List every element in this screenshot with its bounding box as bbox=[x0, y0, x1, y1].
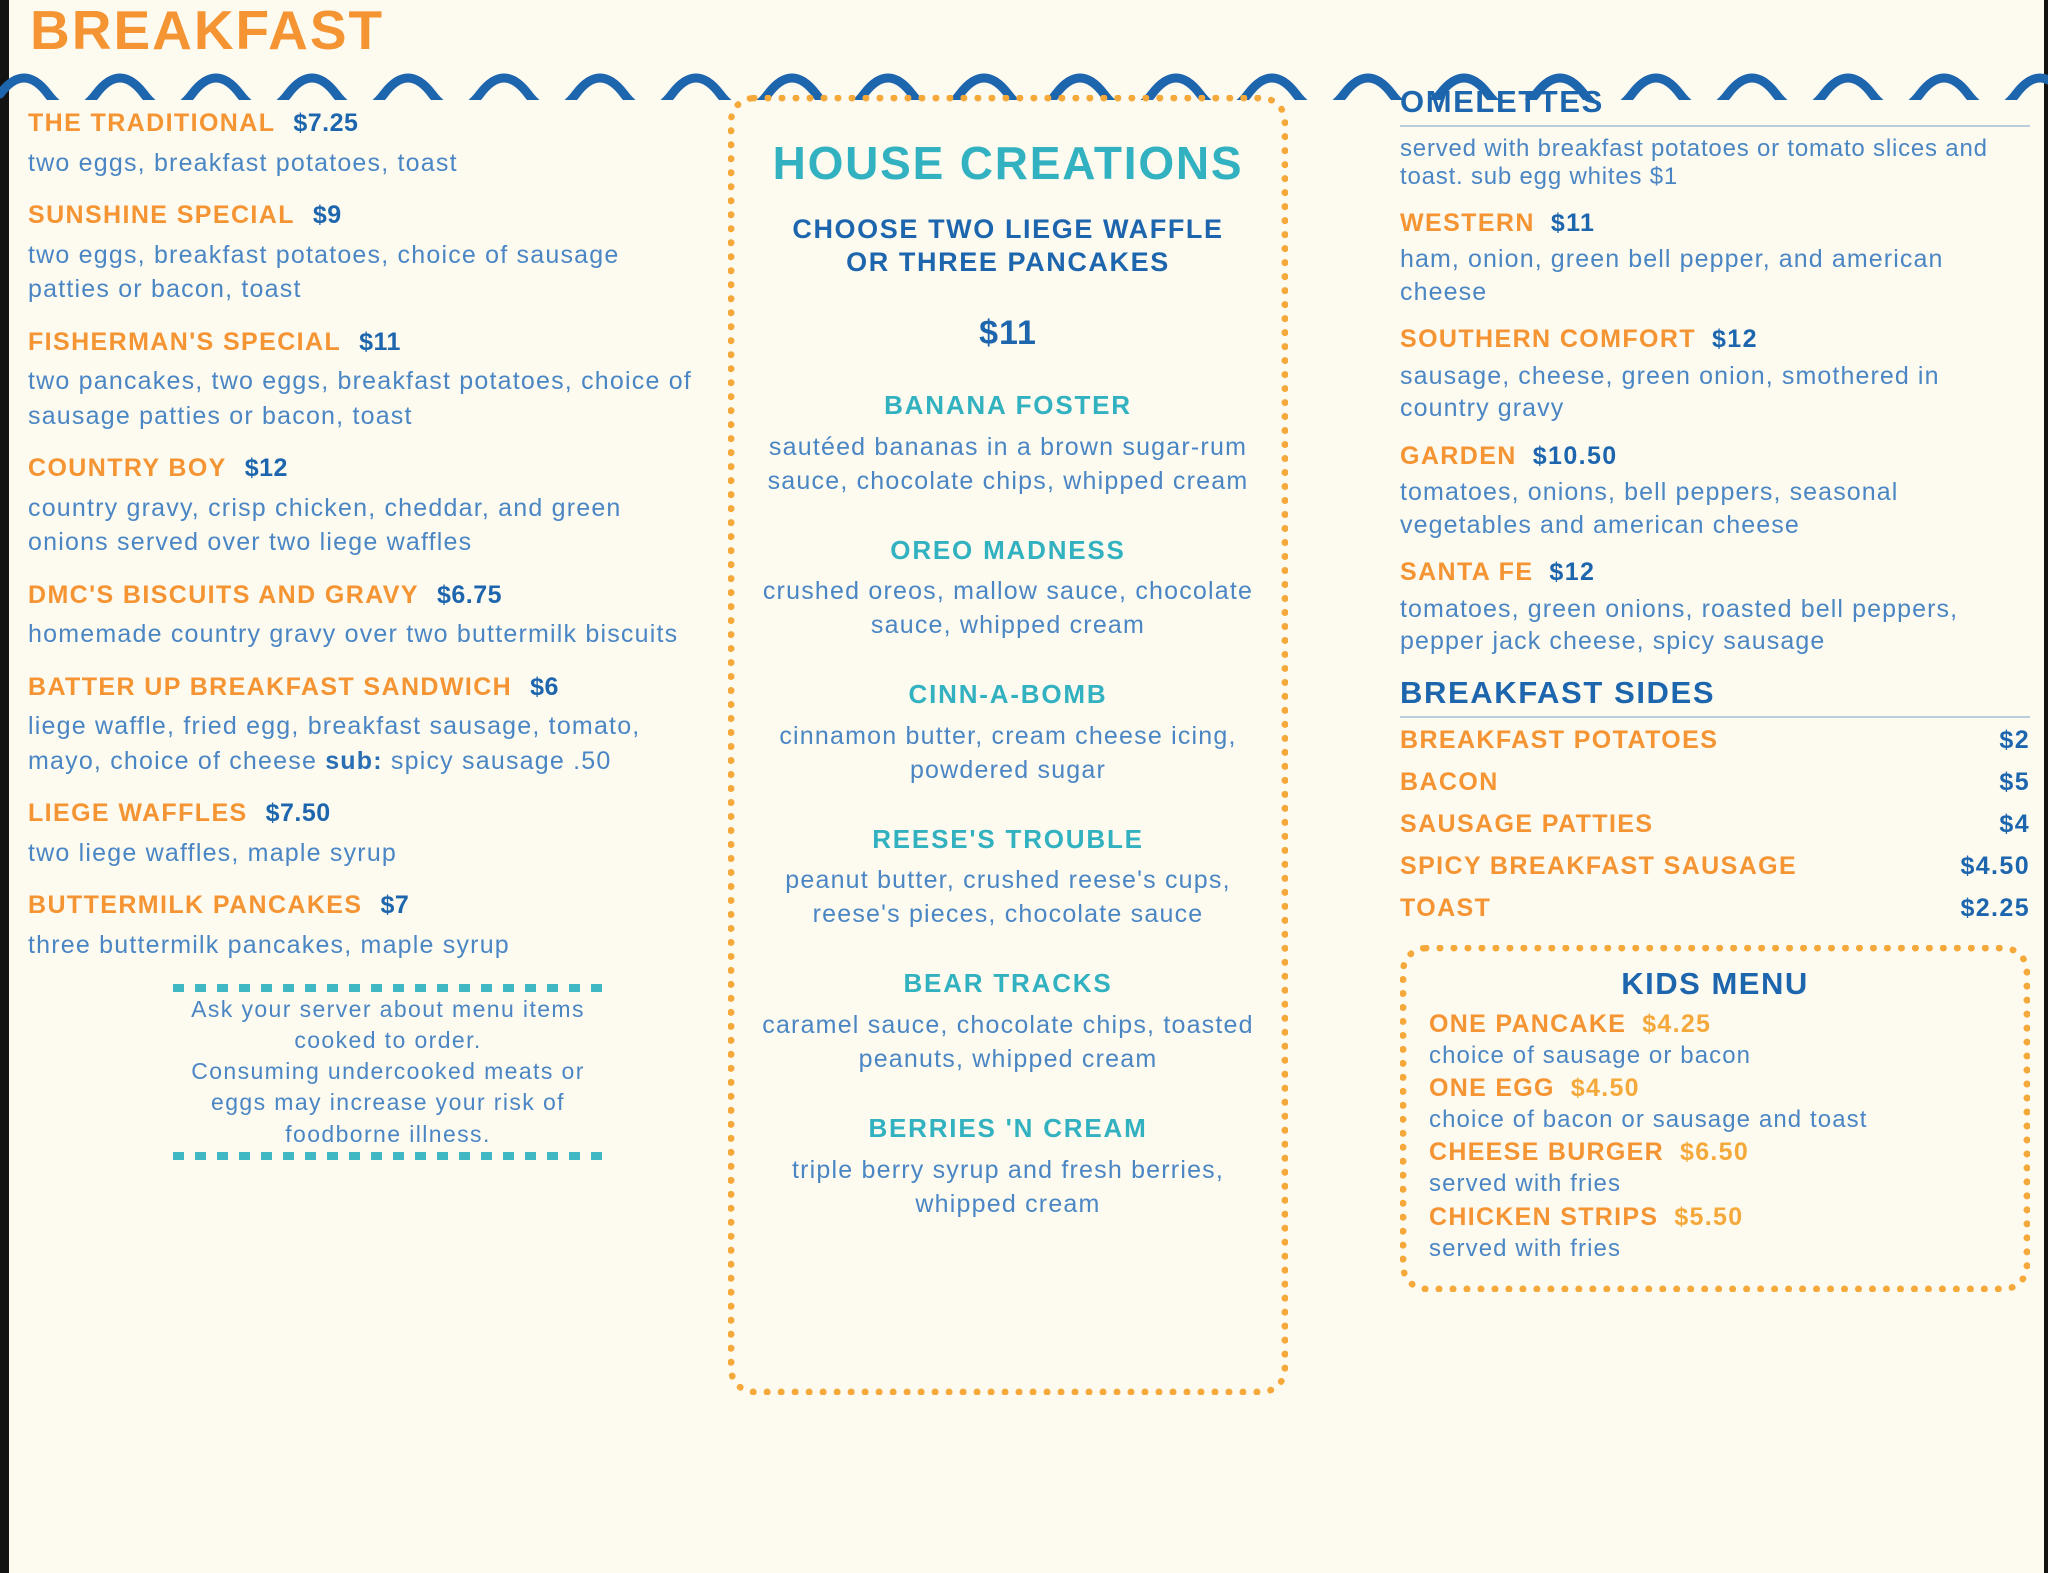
item-name: DMC'S BISCUITS AND GRAVY bbox=[28, 582, 419, 610]
item-name: SOUTHERN COMFORT bbox=[1400, 326, 1696, 354]
menu-page: BREAKFAST THE TRADITIONAL $7.25 two eggs… bbox=[0, 0, 2048, 1573]
item-price: $4.25 bbox=[1642, 1010, 1711, 1039]
menu-item-country-boy[interactable]: COUNTRY BOY $12 country gravy, crisp chi… bbox=[28, 455, 708, 560]
item-description: served with fries bbox=[1429, 1234, 2001, 1263]
side-name: BACON bbox=[1400, 768, 1499, 797]
creation-name: OREO MADNESS bbox=[759, 536, 1257, 565]
item-name: BATTER UP BREAKFAST SANDWICH bbox=[28, 674, 512, 702]
item-name: SUNSHINE SPECIAL bbox=[28, 202, 295, 230]
left-column: THE TRADITIONAL $7.25 two eggs, breakfas… bbox=[28, 110, 708, 1160]
item-name: CHEESE BURGER bbox=[1429, 1138, 1664, 1167]
omelettes-note: served with breakfast potatoes or tomato… bbox=[1400, 135, 2030, 192]
kids-menu-panel: KIDS MENU ONE PANCAKE $4.25 choice of sa… bbox=[1400, 945, 2030, 1292]
item-description: homemade country gravy over two buttermi… bbox=[28, 617, 708, 652]
item-description: two liege waffles, maple syrup bbox=[28, 836, 708, 871]
creation-oreo-madness[interactable]: OREO MADNESS crushed oreos, mallow sauce… bbox=[759, 536, 1257, 643]
omelettes-title: OMELETTES bbox=[1400, 85, 2030, 119]
side-row[interactable]: SPICY BREAKFAST SAUSAGE $4.50 bbox=[1400, 852, 2030, 881]
disclaimer-line-4: eggs may increase your risk of bbox=[138, 1089, 638, 1116]
kids-item-cheese-burger[interactable]: CHEESE BURGER $6.50 served with fries bbox=[1429, 1138, 2001, 1198]
omelette-southern-comfort[interactable]: SOUTHERN COMFORT $12 sausage, cheese, gr… bbox=[1400, 326, 2030, 425]
side-price: $2 bbox=[1999, 726, 2030, 755]
item-price: $6.75 bbox=[437, 582, 502, 610]
house-creations-price: $11 bbox=[759, 314, 1257, 353]
item-header: FISHERMAN'S SPECIAL $11 bbox=[28, 329, 708, 357]
creation-cinn-a-bomb[interactable]: CINN-A-BOMB cinnamon butter, cream chees… bbox=[759, 680, 1257, 787]
creation-description: sautéed bananas in a brown sugar-rum sau… bbox=[759, 430, 1257, 498]
desc-part-post: spicy sausage .50 bbox=[383, 747, 612, 775]
item-price: $7.50 bbox=[266, 800, 331, 828]
side-price: $2.25 bbox=[1960, 894, 2030, 923]
section-rule bbox=[1400, 125, 2030, 127]
creation-description: cinnamon butter, cream cheese icing, pow… bbox=[759, 719, 1257, 787]
creation-description: crushed oreos, mallow sauce, chocolate s… bbox=[759, 574, 1257, 642]
item-description: two eggs, breakfast potatoes, choice of … bbox=[28, 238, 708, 307]
item-price: $12 bbox=[1549, 559, 1595, 587]
item-description: country gravy, crisp chicken, cheddar, a… bbox=[28, 491, 708, 560]
side-name: SPICY BREAKFAST SAUSAGE bbox=[1400, 852, 1797, 881]
omelette-western[interactable]: WESTERN $11 ham, onion, green bell peppe… bbox=[1400, 210, 2030, 309]
item-header: BUTTERMILK PANCAKES $7 bbox=[28, 892, 708, 920]
side-name: BREAKFAST POTATOES bbox=[1400, 726, 1718, 755]
side-row[interactable]: TOAST $2.25 bbox=[1400, 894, 2030, 923]
item-price: $4.50 bbox=[1571, 1074, 1640, 1103]
creation-name: BEAR TRACKS bbox=[759, 969, 1257, 998]
item-header: CHEESE BURGER $6.50 bbox=[1429, 1138, 2001, 1167]
item-header: SUNSHINE SPECIAL $9 bbox=[28, 202, 708, 230]
subtitle-line-2: OR THREE PANCAKES bbox=[759, 246, 1257, 280]
right-column: OMELETTES served with breakfast potatoes… bbox=[1400, 85, 2030, 1292]
item-header: DMC'S BISCUITS AND GRAVY $6.75 bbox=[28, 582, 708, 610]
item-price: $12 bbox=[1712, 326, 1758, 354]
item-description: liege waffle, fried egg, breakfast sausa… bbox=[28, 709, 708, 778]
kids-item-one-egg[interactable]: ONE EGG $4.50 choice of bacon or sausage… bbox=[1429, 1074, 2001, 1134]
item-price: $10.50 bbox=[1533, 443, 1618, 471]
item-description: tomatoes, onions, bell peppers, seasonal… bbox=[1400, 476, 2030, 541]
item-price: $6.50 bbox=[1680, 1138, 1749, 1167]
side-name: SAUSAGE PATTIES bbox=[1400, 810, 1653, 839]
dotted-rule-bottom bbox=[173, 1152, 603, 1160]
subtitle-line-1: CHOOSE TWO LIEGE WAFFLE bbox=[759, 213, 1257, 247]
item-price: $9 bbox=[313, 202, 342, 230]
item-price: $7 bbox=[380, 892, 409, 920]
item-header: THE TRADITIONAL $7.25 bbox=[28, 110, 708, 138]
menu-item-buttermilk-pancakes[interactable]: BUTTERMILK PANCAKES $7 three buttermilk … bbox=[28, 892, 708, 962]
menu-item-batter-up-breakfast-sandwich[interactable]: BATTER UP BREAKFAST SANDWICH $6 liege wa… bbox=[28, 674, 708, 779]
item-header: SANTA FE $12 bbox=[1400, 559, 2030, 587]
item-description: sausage, cheese, green onion, smothered … bbox=[1400, 360, 2030, 425]
item-header: ONE PANCAKE $4.25 bbox=[1429, 1010, 2001, 1039]
house-creations-title: HOUSE CREATIONS bbox=[759, 138, 1257, 189]
item-description: tomatoes, green onions, roasted bell pep… bbox=[1400, 593, 2030, 658]
item-name: CHICKEN STRIPS bbox=[1429, 1203, 1658, 1232]
item-price: $11 bbox=[1551, 210, 1596, 238]
item-description: three buttermilk pancakes, maple syrup bbox=[28, 928, 708, 963]
omelette-garden[interactable]: GARDEN $10.50 tomatoes, onions, bell pep… bbox=[1400, 443, 2030, 542]
creation-name: BANANA FOSTER bbox=[759, 391, 1257, 420]
item-name: BUTTERMILK PANCAKES bbox=[28, 892, 362, 920]
creation-name: REESE'S TROUBLE bbox=[759, 825, 1257, 854]
item-price: $11 bbox=[359, 329, 401, 357]
item-description: choice of bacon or sausage and toast bbox=[1429, 1105, 2001, 1134]
item-description: choice of sausage or bacon bbox=[1429, 1041, 2001, 1070]
side-name: TOAST bbox=[1400, 894, 1491, 923]
creation-bear-tracks[interactable]: BEAR TRACKS caramel sauce, chocolate chi… bbox=[759, 969, 1257, 1076]
side-row[interactable]: BREAKFAST POTATOES $2 bbox=[1400, 726, 2030, 755]
food-safety-disclaimer: Ask your server about menu items cooked … bbox=[138, 984, 638, 1160]
menu-item-fishermans-special[interactable]: FISHERMAN'S SPECIAL $11 two pancakes, tw… bbox=[28, 329, 708, 434]
item-header: WESTERN $11 bbox=[1400, 210, 2030, 238]
creation-description: caramel sauce, chocolate chips, toasted … bbox=[759, 1008, 1257, 1076]
creation-berries-n-cream[interactable]: BERRIES 'N CREAM triple berry syrup and … bbox=[759, 1114, 1257, 1221]
creation-reeses-trouble[interactable]: REESE'S TROUBLE peanut butter, crushed r… bbox=[759, 825, 1257, 932]
item-price: $7.25 bbox=[293, 110, 358, 138]
menu-columns: THE TRADITIONAL $7.25 two eggs, breakfas… bbox=[0, 110, 2048, 1573]
item-header: SOUTHERN COMFORT $12 bbox=[1400, 326, 2030, 354]
creation-name: BERRIES 'N CREAM bbox=[759, 1114, 1257, 1143]
item-header: LIEGE WAFFLES $7.50 bbox=[28, 800, 708, 828]
item-name: FISHERMAN'S SPECIAL bbox=[28, 329, 341, 357]
item-description: ham, onion, green bell pepper, and ameri… bbox=[1400, 243, 2030, 308]
item-name: GARDEN bbox=[1400, 443, 1517, 471]
menu-item-sunshine-special[interactable]: SUNSHINE SPECIAL $9 two eggs, breakfast … bbox=[28, 202, 708, 307]
masthead: BREAKFAST bbox=[30, 2, 384, 60]
creation-name: CINN-A-BOMB bbox=[759, 680, 1257, 709]
item-header: ONE EGG $4.50 bbox=[1429, 1074, 2001, 1103]
item-name: COUNTRY BOY bbox=[28, 455, 227, 483]
side-price: $4 bbox=[1999, 810, 2030, 839]
house-creations-panel: HOUSE CREATIONS CHOOSE TWO LIEGE WAFFLE … bbox=[728, 95, 1288, 1395]
desc-sub-label: sub: bbox=[325, 747, 383, 775]
item-name: WESTERN bbox=[1400, 210, 1535, 238]
item-description: two eggs, breakfast potatoes, toast bbox=[28, 146, 708, 181]
creation-description: triple berry syrup and fresh berries, wh… bbox=[759, 1153, 1257, 1221]
disclaimer-line-5: foodborne illness. bbox=[138, 1121, 638, 1148]
kids-item-one-pancake[interactable]: ONE PANCAKE $4.25 choice of sausage or b… bbox=[1429, 1010, 2001, 1070]
item-description: served with fries bbox=[1429, 1169, 2001, 1198]
side-row[interactable]: BACON $5 bbox=[1400, 768, 2030, 797]
item-name: LIEGE WAFFLES bbox=[28, 800, 248, 828]
item-header: COUNTRY BOY $12 bbox=[28, 455, 708, 483]
item-header: GARDEN $10.50 bbox=[1400, 443, 2030, 471]
item-name: ONE EGG bbox=[1429, 1074, 1555, 1103]
menu-item-dmcs-biscuits-and-gravy[interactable]: DMC'S BISCUITS AND GRAVY $6.75 homemade … bbox=[28, 582, 708, 652]
creation-banana-foster[interactable]: BANANA FOSTER sautéed bananas in a brown… bbox=[759, 391, 1257, 498]
side-price: $5 bbox=[1999, 768, 2030, 797]
breakfast-sides-section: BREAKFAST SIDES BREAKFAST POTATOES $2 BA… bbox=[1400, 676, 2030, 923]
center-column: HOUSE CREATIONS CHOOSE TWO LIEGE WAFFLE … bbox=[728, 95, 1348, 1395]
item-price: $5.50 bbox=[1674, 1203, 1743, 1232]
item-header: CHICKEN STRIPS $5.50 bbox=[1429, 1203, 2001, 1232]
disclaimer-line-2: cooked to order. bbox=[138, 1027, 638, 1054]
house-creations-subtitle: CHOOSE TWO LIEGE WAFFLE OR THREE PANCAKE… bbox=[759, 213, 1257, 281]
section-rule bbox=[1400, 716, 2030, 718]
item-header: BATTER UP BREAKFAST SANDWICH $6 bbox=[28, 674, 708, 702]
item-description: two pancakes, two eggs, breakfast potato… bbox=[28, 364, 708, 433]
menu-item-liege-waffles[interactable]: LIEGE WAFFLES $7.50 two liege waffles, m… bbox=[28, 800, 708, 870]
creation-description: peanut butter, crushed reese's cups, ree… bbox=[759, 863, 1257, 931]
kids-menu-title: KIDS MENU bbox=[1429, 966, 2001, 1002]
item-price: $6 bbox=[530, 674, 559, 702]
disclaimer-line-1: Ask your server about menu items bbox=[138, 996, 638, 1023]
kids-item-chicken-strips[interactable]: CHICKEN STRIPS $5.50 served with fries bbox=[1429, 1203, 2001, 1263]
item-name: THE TRADITIONAL bbox=[28, 110, 275, 138]
side-row[interactable]: SAUSAGE PATTIES $4 bbox=[1400, 810, 2030, 839]
item-price: $12 bbox=[245, 455, 288, 483]
item-name: ONE PANCAKE bbox=[1429, 1010, 1626, 1039]
omelettes-section: OMELETTES served with breakfast potatoes… bbox=[1400, 85, 2030, 658]
disclaimer-line-3: Consuming undercooked meats or bbox=[138, 1058, 638, 1085]
omelette-santa-fe[interactable]: SANTA FE $12 tomatoes, green onions, roa… bbox=[1400, 559, 2030, 658]
item-name: SANTA FE bbox=[1400, 559, 1533, 587]
breakfast-sides-title: BREAKFAST SIDES bbox=[1400, 676, 2030, 710]
dotted-rule-top bbox=[173, 984, 603, 992]
page-title: BREAKFAST bbox=[30, 2, 384, 60]
menu-item-the-traditional[interactable]: THE TRADITIONAL $7.25 two eggs, breakfas… bbox=[28, 110, 708, 180]
side-price: $4.50 bbox=[1960, 852, 2030, 881]
